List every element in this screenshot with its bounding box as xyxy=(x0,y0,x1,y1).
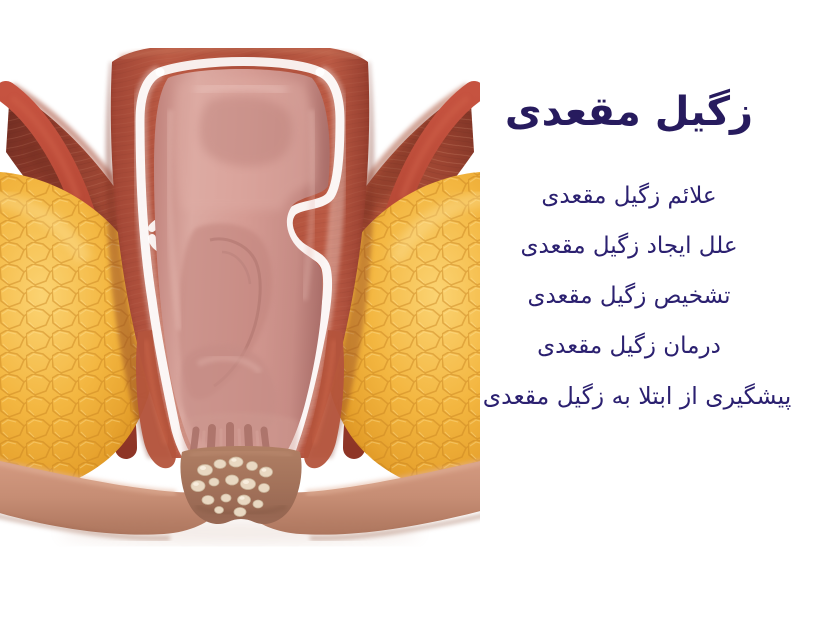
wart xyxy=(234,508,246,517)
list-item-prevention[interactable]: پیشگیری از ابتلا به زگیل مقعدی xyxy=(418,382,840,411)
wart xyxy=(226,475,239,485)
wart xyxy=(215,507,224,514)
wart xyxy=(214,460,226,469)
wart xyxy=(221,494,231,502)
wart xyxy=(202,496,214,505)
wart xyxy=(209,478,219,486)
anal-verge-group xyxy=(180,446,301,524)
base-shadow xyxy=(60,520,420,544)
wart xyxy=(247,462,258,471)
list-item-causes[interactable]: علل ایجاد زگیل مقعدی xyxy=(418,232,840,260)
anal-canal-lumen-group xyxy=(154,69,330,462)
list-item-diagnosis[interactable]: تشخیص زگیل مقعدی xyxy=(418,282,840,310)
wart xyxy=(259,484,270,493)
wart xyxy=(229,457,243,467)
infographic-canvas: زگیل مقعدی علائم زگیل مقعدی علل ایجاد زگ… xyxy=(0,0,840,620)
wart xyxy=(191,481,205,492)
wart xyxy=(253,500,263,508)
topic-list: علائم زگیل مقعدی علل ایجاد زگیل مقعدی تش… xyxy=(418,182,840,411)
page-title: زگیل مقعدی xyxy=(424,89,834,135)
anal-canal-illustration xyxy=(0,0,480,560)
wart xyxy=(241,479,256,490)
list-item-symptoms[interactable]: علائم زگیل مقعدی xyxy=(418,182,840,210)
text-panel: زگیل مقعدی علائم زگیل مقعدی علل ایجاد زگ… xyxy=(418,0,840,620)
wart xyxy=(238,495,251,505)
wart xyxy=(198,465,213,476)
wart xyxy=(260,467,273,477)
list-item-treatment[interactable]: درمان زگیل مقعدی xyxy=(418,332,840,360)
